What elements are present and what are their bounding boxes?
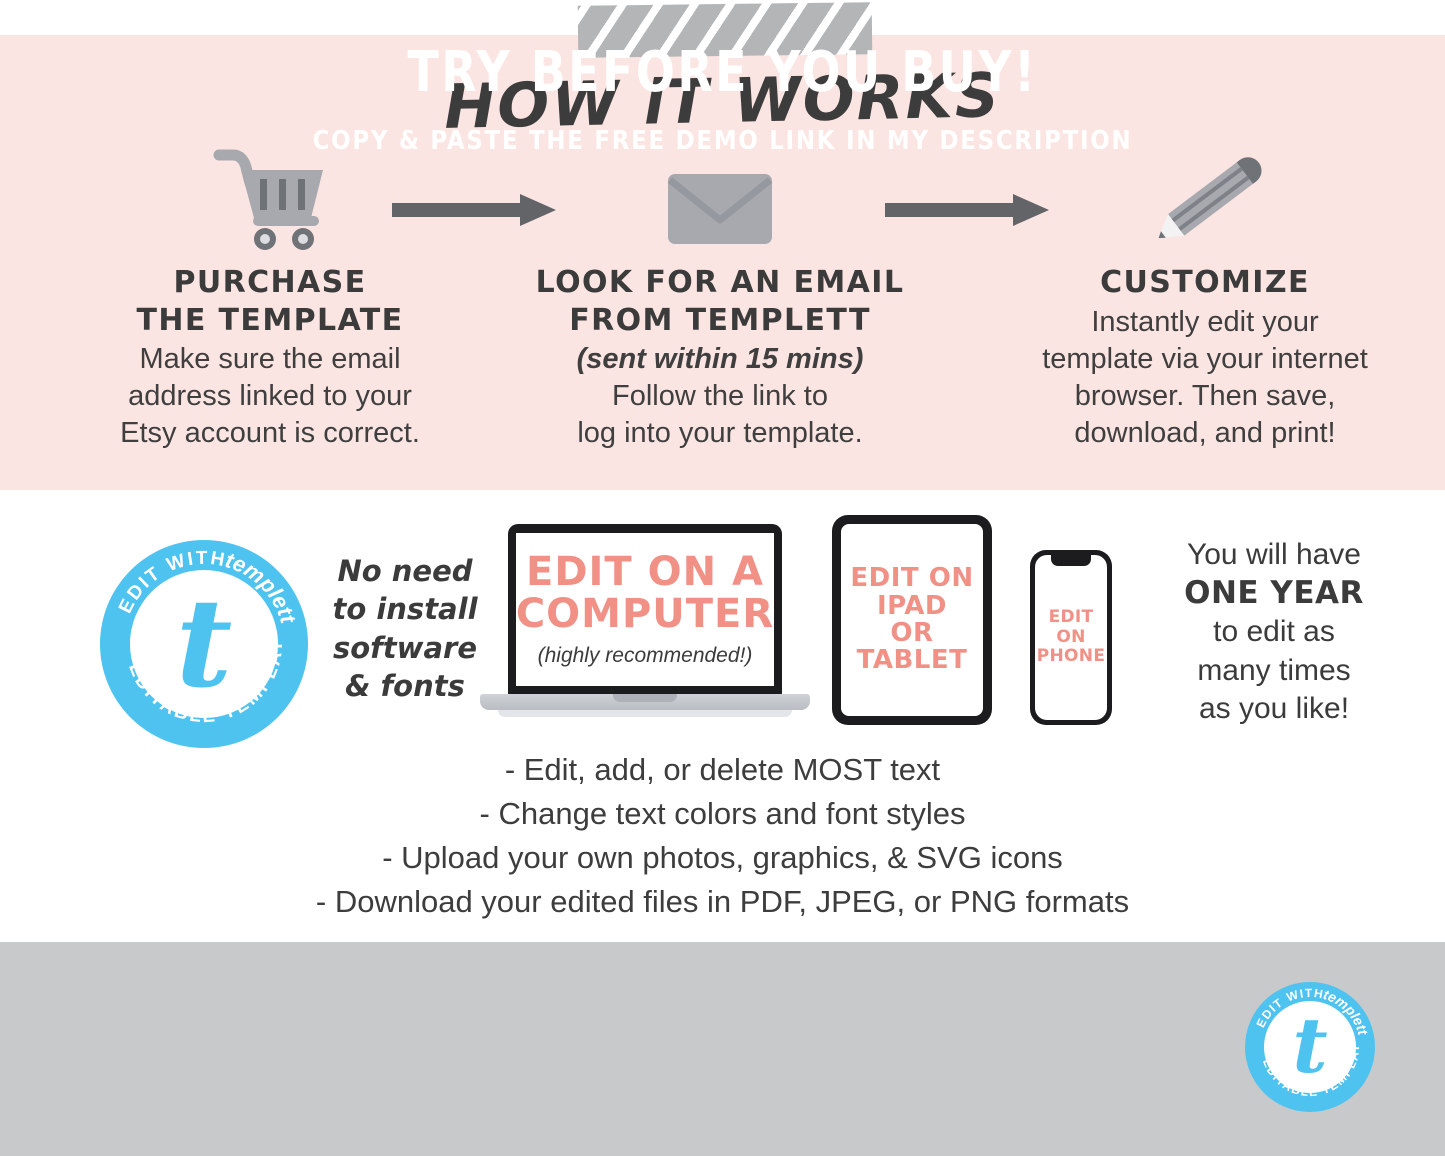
step-heading: PURCHASE THE TEMPLATE — [60, 264, 480, 339]
laptop-headline: EDIT ON A COMPUTER — [516, 551, 774, 635]
list-item: - Upload your own photos, graphics, & SV… — [0, 836, 1445, 880]
phone-headline-line2: ON — [1056, 627, 1085, 647]
badge-top-arc: EDIT WITH — [115, 548, 228, 617]
how-it-works-infographic: HOW iT WORKS PURCHASE THE TEMPLATE — [0, 0, 1445, 1156]
templett-badge-footer: t EDIT WITH templett EDITABLE TEMPLATE — [1245, 982, 1375, 1112]
laptop-headline-line2: COMPUTER — [516, 591, 774, 637]
badge-arc-text: EDIT WITH templett EDITABLE TEMPLATE — [1245, 982, 1375, 1112]
features-list: - Edit, add, or delete MOST text - Chang… — [0, 748, 1445, 924]
list-item: - Edit, add, or delete MOST text — [0, 748, 1445, 792]
steps-row: PURCHASE THE TEMPLATE Make sure the emai… — [0, 140, 1445, 470]
step-body-line3: log into your template. — [577, 417, 862, 449]
tablet-frame: EDIT ON IPAD OR TABLET — [832, 515, 992, 725]
step-heading-line1: LOOK FOR AN EMAIL — [536, 265, 905, 300]
phone-screen: EDIT ON PHONE — [1035, 555, 1107, 720]
footer-bar — [0, 942, 1445, 1156]
tablet-headline-line3: OR — [890, 618, 933, 648]
tablet-headline: EDIT ON IPAD OR TABLET — [850, 565, 973, 674]
footer-subtitle: COPY & PASTE THE FREE DEMO LINK IN MY DE… — [87, 126, 1359, 156]
svg-text:EDIT WITH: EDIT WITH — [115, 548, 228, 617]
svg-text:templett: templett — [222, 547, 301, 627]
envelope-icon — [500, 140, 940, 250]
list-item: - Download your edited files in PDF, JPE… — [0, 880, 1445, 924]
phone-headline-line3: PHONE — [1037, 646, 1105, 666]
one-year-highlight: ONE YEAR — [1184, 575, 1364, 611]
svg-text:EDIT WITH: EDIT WITH — [1253, 986, 1325, 1030]
tablet-headline-line2: IPAD — [877, 591, 947, 621]
no-need-line2: to install — [332, 592, 477, 626]
step-heading: CUSTOMIZE — [985, 264, 1425, 302]
phone-headline: EDIT ON PHONE — [1037, 608, 1105, 667]
badge-arc-text: EDIT WITH templett EDITABLE TEMPLATE — [100, 540, 308, 748]
laptop-screen: EDIT ON A COMPUTER (highly recommended!) — [516, 533, 774, 686]
list-item: - Change text colors and font styles — [0, 792, 1445, 836]
step-body: Instantly edit your template via your in… — [985, 304, 1425, 452]
step-body: Make sure the email address linked to yo… — [60, 341, 480, 452]
no-need-line1: No need — [337, 554, 472, 588]
footer-title: TRY BEFORE YOU BUY! — [130, 40, 1315, 105]
phone-frame: EDIT ON PHONE — [1030, 550, 1112, 725]
one-year-line5: as you like! — [1199, 692, 1349, 725]
one-year-line1: You will have — [1187, 538, 1361, 571]
step-body-line2: template via your internet — [1042, 343, 1368, 375]
laptop-foot — [498, 710, 792, 717]
no-need-line4: & fonts — [345, 669, 465, 703]
laptop-subtext: (highly recommended!) — [538, 644, 753, 668]
phone-device: EDIT ON PHONE — [1030, 550, 1112, 725]
arrow-right-icon-1 — [392, 194, 556, 226]
laptop-trackpad-notch — [613, 694, 677, 702]
step-body-line2: Follow the link to — [612, 380, 828, 412]
svg-text:templett: templett — [1322, 986, 1372, 1038]
step-body-line3: browser. Then save, — [1075, 380, 1336, 412]
one-year-line3: to edit as — [1213, 615, 1335, 648]
step-heading-line2: FROM TEMPLETT — [569, 303, 871, 338]
step-body-line1: Make sure the email — [139, 343, 400, 375]
arrow-right-icon-2 — [885, 194, 1049, 226]
one-year-text: You will have ONE YEAR to edit as many t… — [1118, 536, 1430, 728]
step-purchase: PURCHASE THE TEMPLATE Make sure the emai… — [60, 140, 480, 452]
pencil-icon — [985, 140, 1425, 250]
laptop-device: EDIT ON A COMPUTER (highly recommended!) — [480, 524, 810, 732]
step-body-line2: address linked to your — [128, 380, 412, 412]
step-body-line1: (sent within 15 mins) — [577, 343, 864, 375]
step-look-for-email: LOOK FOR AN EMAIL FROM TEMPLETT (sent wi… — [500, 140, 940, 452]
step-body-line4: download, and print! — [1074, 417, 1335, 449]
phone-headline-line1: EDIT — [1049, 607, 1094, 627]
laptop-lid: EDIT ON A COMPUTER (highly recommended!) — [508, 524, 782, 696]
laptop-headline-line1: EDIT ON A — [526, 549, 764, 595]
badge-brand: templett — [222, 547, 301, 627]
step-customize: CUSTOMIZE Instantly edit your template v… — [985, 140, 1425, 452]
step-body: (sent within 15 mins) Follow the link to… — [500, 341, 940, 452]
tablet-device: EDIT ON IPAD OR TABLET — [832, 515, 992, 725]
tablet-screen: EDIT ON IPAD OR TABLET — [841, 524, 983, 716]
templett-badge: t EDIT WITH templett EDITABLE TEMPLATE — [100, 540, 308, 748]
badge-brand: templett — [1322, 986, 1372, 1038]
one-year-line4: many times — [1197, 654, 1350, 687]
no-need-text: No need to install software & fonts — [330, 552, 480, 705]
tablet-headline-line1: EDIT ON — [850, 563, 973, 593]
no-need-line3: software — [333, 631, 477, 665]
badge-top-arc: EDIT WITH — [1253, 986, 1325, 1030]
step-body-line3: Etsy account is correct. — [120, 417, 420, 449]
step-body-line1: Instantly edit your — [1091, 306, 1318, 338]
step-heading-line1: CUSTOMIZE — [1100, 265, 1310, 300]
step-heading-line1: PURCHASE — [173, 265, 366, 300]
tablet-headline-line4: TABLET — [857, 645, 968, 675]
phone-notch — [1051, 555, 1091, 566]
step-heading-line2: THE TEMPLATE — [136, 303, 403, 338]
step-heading: LOOK FOR AN EMAIL FROM TEMPLETT — [500, 264, 940, 339]
